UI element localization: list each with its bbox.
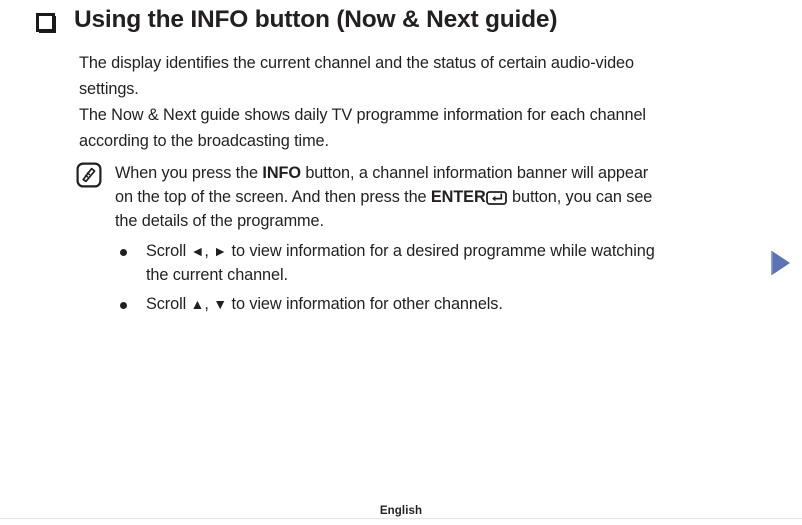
- note-line-3: the details of the programme.: [115, 209, 766, 233]
- down-arrow-icon: ▼: [213, 296, 227, 312]
- list-item: Scroll ◄, ► to view information for a de…: [120, 240, 760, 288]
- note-line-2-suffix: button, you can see: [508, 188, 653, 206]
- bullet-1-prefix: Scroll: [146, 242, 191, 260]
- footer-divider: [0, 518, 802, 519]
- bullet-dot-icon: [120, 302, 127, 309]
- bullet-1-line-1: Scroll ◄, ► to view information for a de…: [146, 240, 760, 264]
- enter-key-icon: [486, 188, 507, 202]
- paragraph-2: The Now & Next guide shows daily TV prog…: [79, 102, 755, 154]
- note-line-2-prefix: on the top of the screen. And then press…: [115, 188, 431, 206]
- note-text: When you press the INFO button, a channe…: [115, 161, 766, 234]
- bullet-2-sep: ,: [204, 295, 213, 313]
- hollow-square-bullet-icon: [36, 13, 56, 33]
- bullet-1-line-2: the current channel.: [146, 264, 760, 288]
- paragraph-1-line-1: The display identifies the current chann…: [79, 50, 755, 76]
- bullet-1-suffix: to view information for a desired progra…: [227, 242, 655, 260]
- note-line-1-suffix: button, a channel information banner wil…: [301, 164, 648, 182]
- footer-language-label: English: [0, 505, 802, 517]
- note-callout: When you press the INFO button, a channe…: [76, 161, 766, 234]
- note-line-2: on the top of the screen. And then press…: [115, 185, 766, 209]
- list-item-text: Scroll ◄, ► to view information for a de…: [146, 240, 760, 288]
- bullet-1-sep: ,: [204, 242, 213, 260]
- page-heading: Using the INFO button (Now & Next guide): [36, 6, 762, 34]
- enter-keyword: ENTER: [431, 188, 486, 206]
- bullet-dot-icon: [120, 249, 127, 256]
- note-line-1: When you press the INFO button, a channe…: [115, 161, 766, 185]
- list-item-text: Scroll ▲, ▼ to view information for othe…: [146, 293, 760, 317]
- bullet-2-line-1: Scroll ▲, ▼ to view information for othe…: [146, 293, 760, 317]
- info-keyword: INFO: [262, 164, 301, 182]
- bullet-list: Scroll ◄, ► to view information for a de…: [120, 240, 760, 316]
- list-item: Scroll ▲, ▼ to view information for othe…: [120, 293, 760, 317]
- paragraph-2-line-1: The Now & Next guide shows daily TV prog…: [79, 102, 755, 128]
- paragraph-1-line-2: settings.: [79, 76, 755, 102]
- left-arrow-icon: ◄: [191, 243, 205, 259]
- up-arrow-icon: ▲: [191, 296, 205, 312]
- paragraph-1: The display identifies the current chann…: [79, 50, 755, 102]
- note-pencil-icon: [76, 162, 102, 188]
- note-line-1-prefix: When you press the: [115, 164, 262, 182]
- manual-page: Using the INFO button (Now & Next guide)…: [0, 0, 802, 525]
- page-title: Using the INFO button (Now & Next guide): [74, 6, 557, 34]
- bullet-2-suffix: to view information for other channels.: [227, 295, 503, 313]
- right-arrow-icon: ►: [213, 243, 227, 259]
- next-page-triangle-icon[interactable]: [769, 250, 793, 276]
- paragraph-2-line-2: according to the broadcasting time.: [79, 128, 755, 154]
- bullet-2-prefix: Scroll: [146, 295, 191, 313]
- body-paragraphs: The display identifies the current chann…: [79, 50, 755, 154]
